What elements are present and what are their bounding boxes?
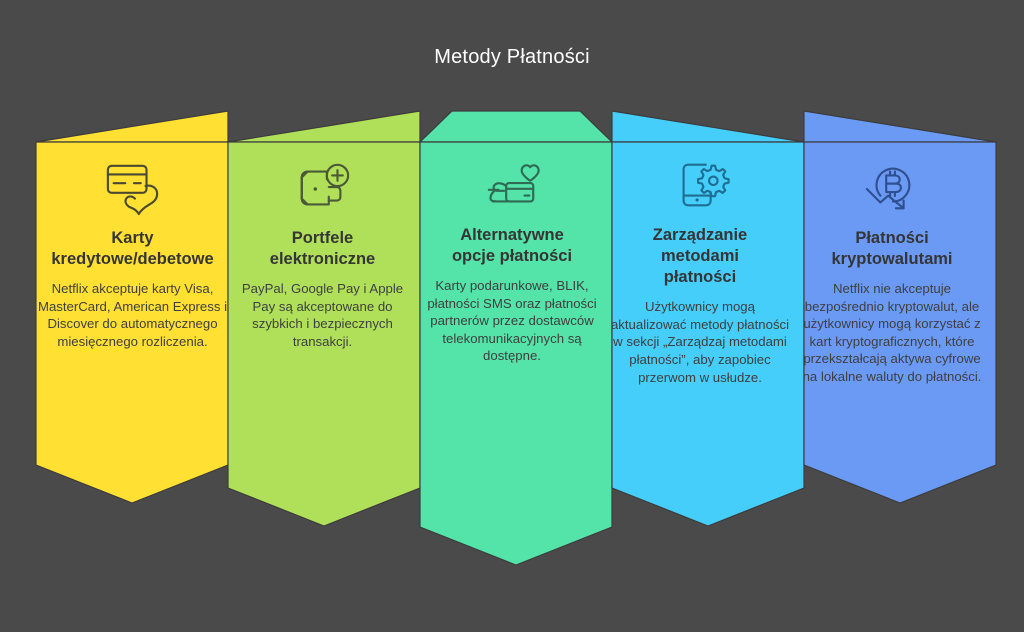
wallet-plus-icon <box>292 160 354 216</box>
panel-alternatywne-opcje-platnosci[interactable]: Alternatywne opcje płatności Karty podar… <box>419 157 605 365</box>
panel-body: Netflix akceptuje karty Visa, MasterCard… <box>36 280 229 350</box>
panel-platnosci-kryptowalutami[interactable]: Płatności kryptowalutami Netflix nie akc… <box>797 160 987 386</box>
panel-body: Karty podarunkowe, BLIK, płatności SMS o… <box>419 277 605 365</box>
panel-title: Karty kredytowe/debetowe <box>51 228 213 270</box>
hand-card-heart-icon <box>481 157 543 213</box>
credit-card-hand-icon <box>102 160 164 216</box>
banner-roof-3 <box>420 111 612 142</box>
phone-gear-icon <box>669 157 731 213</box>
panel-zarzadzanie-metodami-platnosci[interactable]: Zarządzanie metodami płatności Użytkowni… <box>609 157 791 386</box>
bitcoin-trend-down-icon <box>861 160 923 216</box>
panel-body: Netflix nie akceptuje bezpośrednio krypt… <box>797 280 987 385</box>
panel-body: PayPal, Google Pay i Apple Pay są akcept… <box>231 280 414 350</box>
panel-body: Użytkownicy mogą aktualizować metody pła… <box>609 298 791 386</box>
panel-title: Zarządzanie metodami płatności <box>653 225 747 288</box>
banner-roof-1 <box>36 111 228 142</box>
banner-roof-4 <box>612 111 804 142</box>
banner-roof-2 <box>228 111 420 142</box>
panel-title: Alternatywne opcje płatności <box>452 225 572 267</box>
banner-roof-5 <box>804 111 996 142</box>
panel-portfele-elektroniczne[interactable]: Portfele elektroniczne PayPal, Google Pa… <box>231 160 414 350</box>
panel-title: Portfele elektroniczne <box>270 228 375 270</box>
panel-karty-kredytowe-debetowe[interactable]: Karty kredytowe/debetowe Netflix akceptu… <box>36 160 229 350</box>
panel-title: Płatności kryptowalutami <box>831 228 952 270</box>
